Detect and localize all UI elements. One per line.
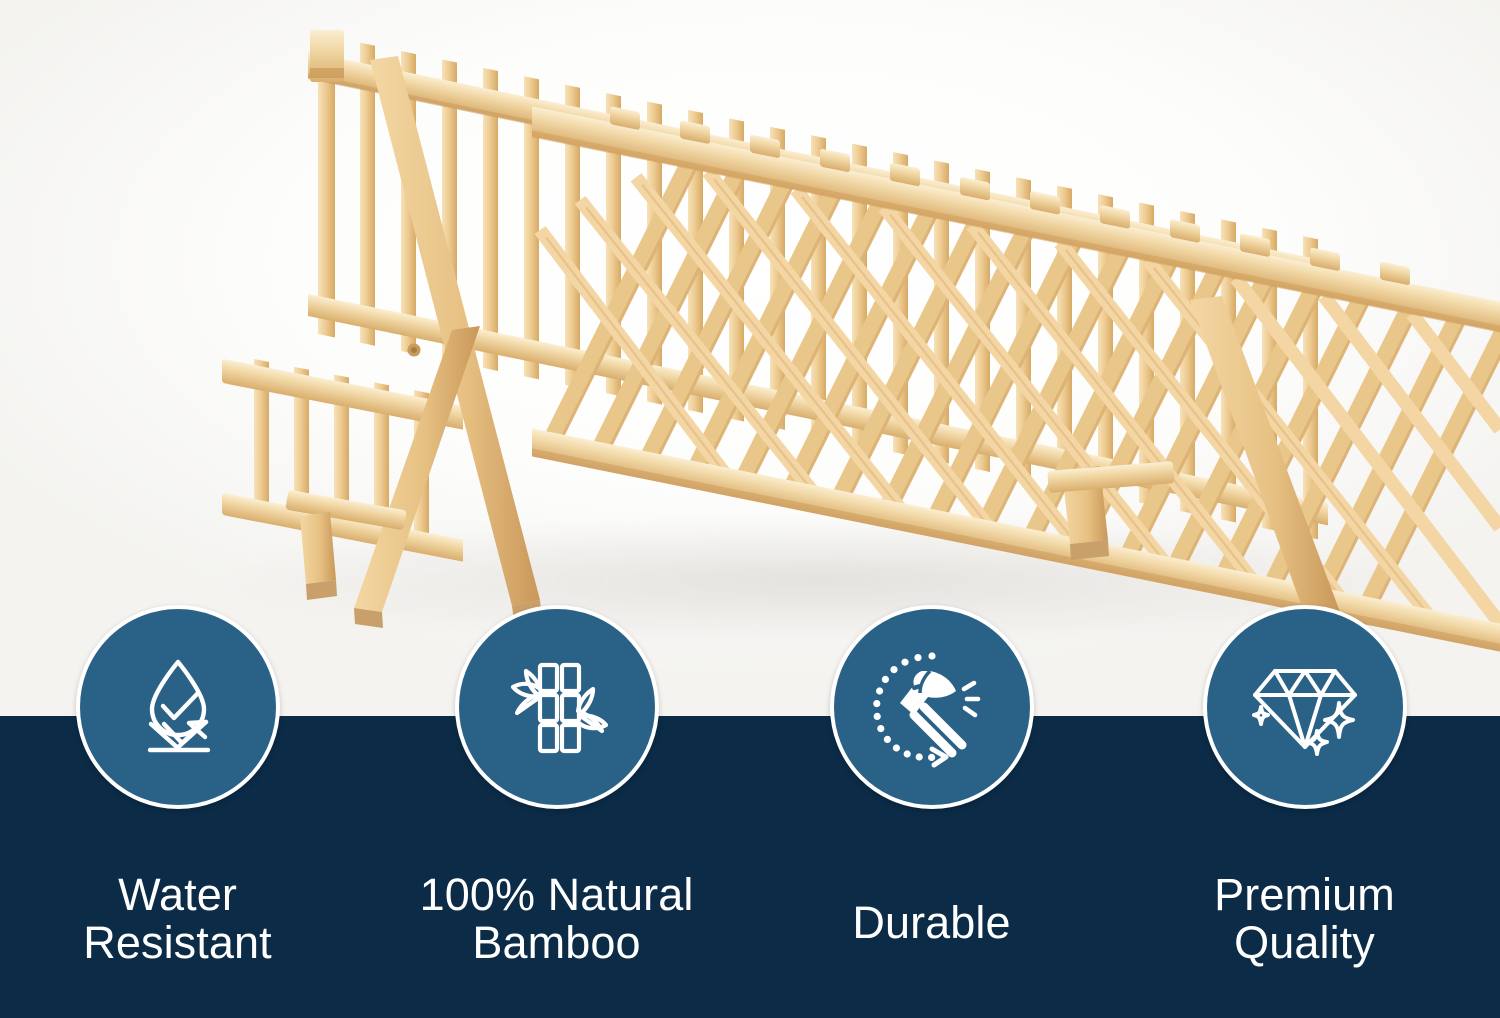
water-drop-check-repel-icon (120, 649, 236, 765)
badge-water-resistant (76, 605, 280, 809)
bamboo-stalks-leaves-icon (499, 649, 615, 765)
feature-list: Water Resistant (0, 605, 1500, 1018)
feature-item-water-resistant: Water Resistant (0, 605, 365, 1018)
feature-label-water-resistant: Water Resistant (83, 871, 271, 967)
feature-label-durable: Durable (852, 899, 1010, 947)
diamond-sparkle-icon (1243, 645, 1367, 769)
badge-natural-bamboo (455, 605, 659, 809)
feature-label-natural-bamboo: 100% Natural Bamboo (420, 871, 694, 967)
feature-item-premium-quality: Premium Quality (1117, 605, 1492, 1018)
feature-item-durable: Durable (744, 605, 1119, 1018)
feature-item-natural-bamboo: 100% Natural Bamboo (369, 605, 744, 1018)
hammer-impact-icon (870, 645, 994, 769)
infographic-canvas: Water Resistant (0, 0, 1500, 1018)
feature-label-premium-quality: Premium Quality (1214, 871, 1395, 967)
badge-premium-quality (1203, 605, 1407, 809)
badge-durable (830, 605, 1034, 809)
